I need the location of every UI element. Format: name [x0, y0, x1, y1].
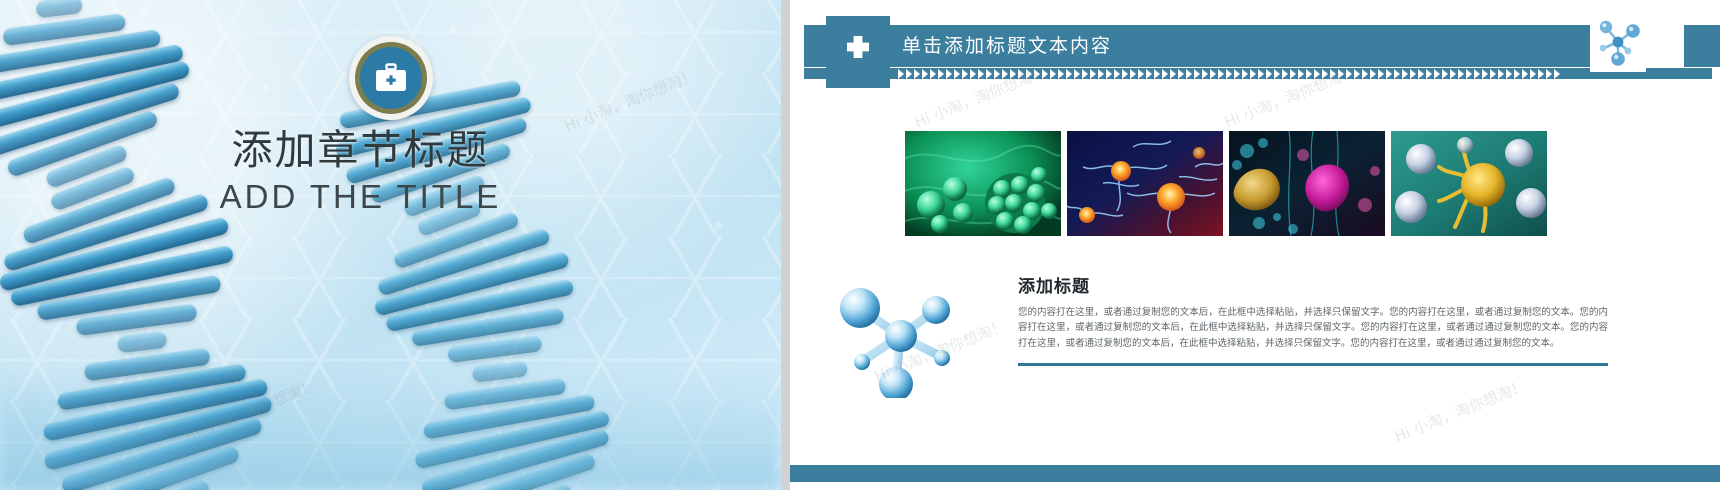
molecule-icon [830, 385, 965, 402]
section-divider-slide: 添加章节标题 ADD THE TITLE Hi 小淘，淘你想淘！ Hi 小淘，淘… [0, 0, 781, 490]
gallery-image-2[interactable] [1067, 131, 1223, 236]
slide-deck: 添加章节标题 ADD THE TITLE Hi 小淘，淘你想淘！ Hi 小淘，淘… [0, 0, 1720, 490]
header-molecule-badge [1590, 14, 1646, 72]
content-title: 添加标题 [1018, 272, 1608, 297]
section-title-cn: 添加章节标题 [0, 126, 721, 174]
gallery-image-4[interactable] [1391, 131, 1547, 236]
gallery-image-1[interactable] [905, 131, 1061, 236]
header-icon-tab [826, 16, 890, 88]
content-paragraph: 您的内容打在这里，或者通过复制您的文本后，在此框中选择粘贴，并选择只保留文字。您… [1018, 305, 1608, 351]
section-title-en: ADD THE TITLE [0, 178, 721, 216]
content-slide: 单击添加标题文本内容 [781, 0, 1720, 490]
slide-footer-bar [790, 465, 1720, 482]
image-gallery [905, 131, 1547, 236]
header-title: 单击添加标题文本内容 [902, 25, 1112, 67]
section-title-group: 添加章节标题 ADD THE TITLE [0, 126, 781, 216]
slide-header: 单击添加标题文本内容 [790, 16, 1720, 80]
gallery-image-3[interactable] [1229, 131, 1385, 236]
badge-inner-circle [360, 47, 422, 109]
molecule-icon [1593, 15, 1643, 72]
content-text-block: 添加标题 您的内容打在这里，或者通过复制您的文本后，在此框中选择粘贴，并选择只保… [1018, 272, 1608, 366]
header-bar-right-cap [1684, 25, 1720, 67]
medical-cross-icon [841, 33, 875, 72]
watermark: Hi 小淘，淘你想淘！ [1391, 375, 1529, 447]
content-molecule-illustration [830, 278, 965, 398]
medical-kit-icon [374, 63, 408, 93]
medical-badge [349, 36, 433, 120]
header-chevron-strip [898, 69, 1570, 79]
content-divider-rule [1018, 363, 1608, 366]
bottom-blur-gradient [0, 370, 781, 490]
badge-outer-ring [355, 42, 427, 114]
